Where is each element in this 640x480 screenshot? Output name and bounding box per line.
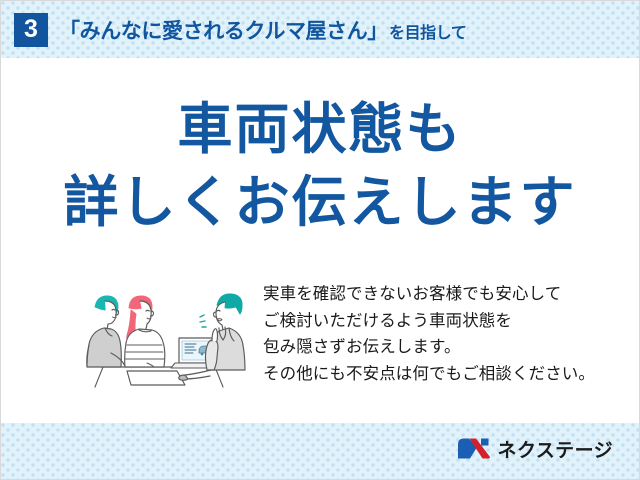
body-copy-line: その他にも不安点は何でもご相談ください。 [263, 361, 595, 388]
brand-logo: ネクステージ [457, 437, 613, 466]
headline-line-2: 詳しくお伝えします [1, 166, 639, 239]
header-title-tail: を目指して [388, 19, 467, 43]
body-copy-line: 実車を確認できないお客様でも安心して [263, 281, 595, 308]
brand-wordmark: ネクステージ [498, 442, 613, 461]
body-copy: 実車を確認できないお客様でも安心して ご検討いただけるよう車両状態を 包み隠さず… [263, 281, 595, 388]
nextage-n-logo-icon [457, 437, 491, 466]
consultation-illustration [59, 275, 259, 390]
body-copy-line: 包み隠さずお伝えします。 [263, 334, 595, 361]
header-title-quoted: 「みんなに愛されるクルマ屋さん」 [59, 15, 388, 45]
content-row: 実車を確認できないお客様でも安心して ご検討いただけるよう車両状態を 包み隠さず… [1, 275, 639, 395]
headline-line-1: 車両状態も [1, 93, 639, 166]
header-content: 3 「みんなに愛されるクルマ屋さん」 を目指して [14, 1, 467, 58]
header-band: 3 「みんなに愛されるクルマ屋さん」 を目指して [1, 1, 639, 58]
footer-band: ネクステージ [1, 423, 639, 479]
header-title: 「みんなに愛されるクルマ屋さん」 を目指して [59, 15, 467, 45]
page-title: 車両状態も 詳しくお伝えします [1, 93, 639, 238]
body-copy-line: ご検討いただけるよう車両状態を [263, 308, 595, 335]
promo-banner: 3 「みんなに愛されるクルマ屋さん」 を目指して 車両状態も 詳しくお伝えします [0, 0, 640, 480]
section-number-badge: 3 [14, 13, 48, 47]
